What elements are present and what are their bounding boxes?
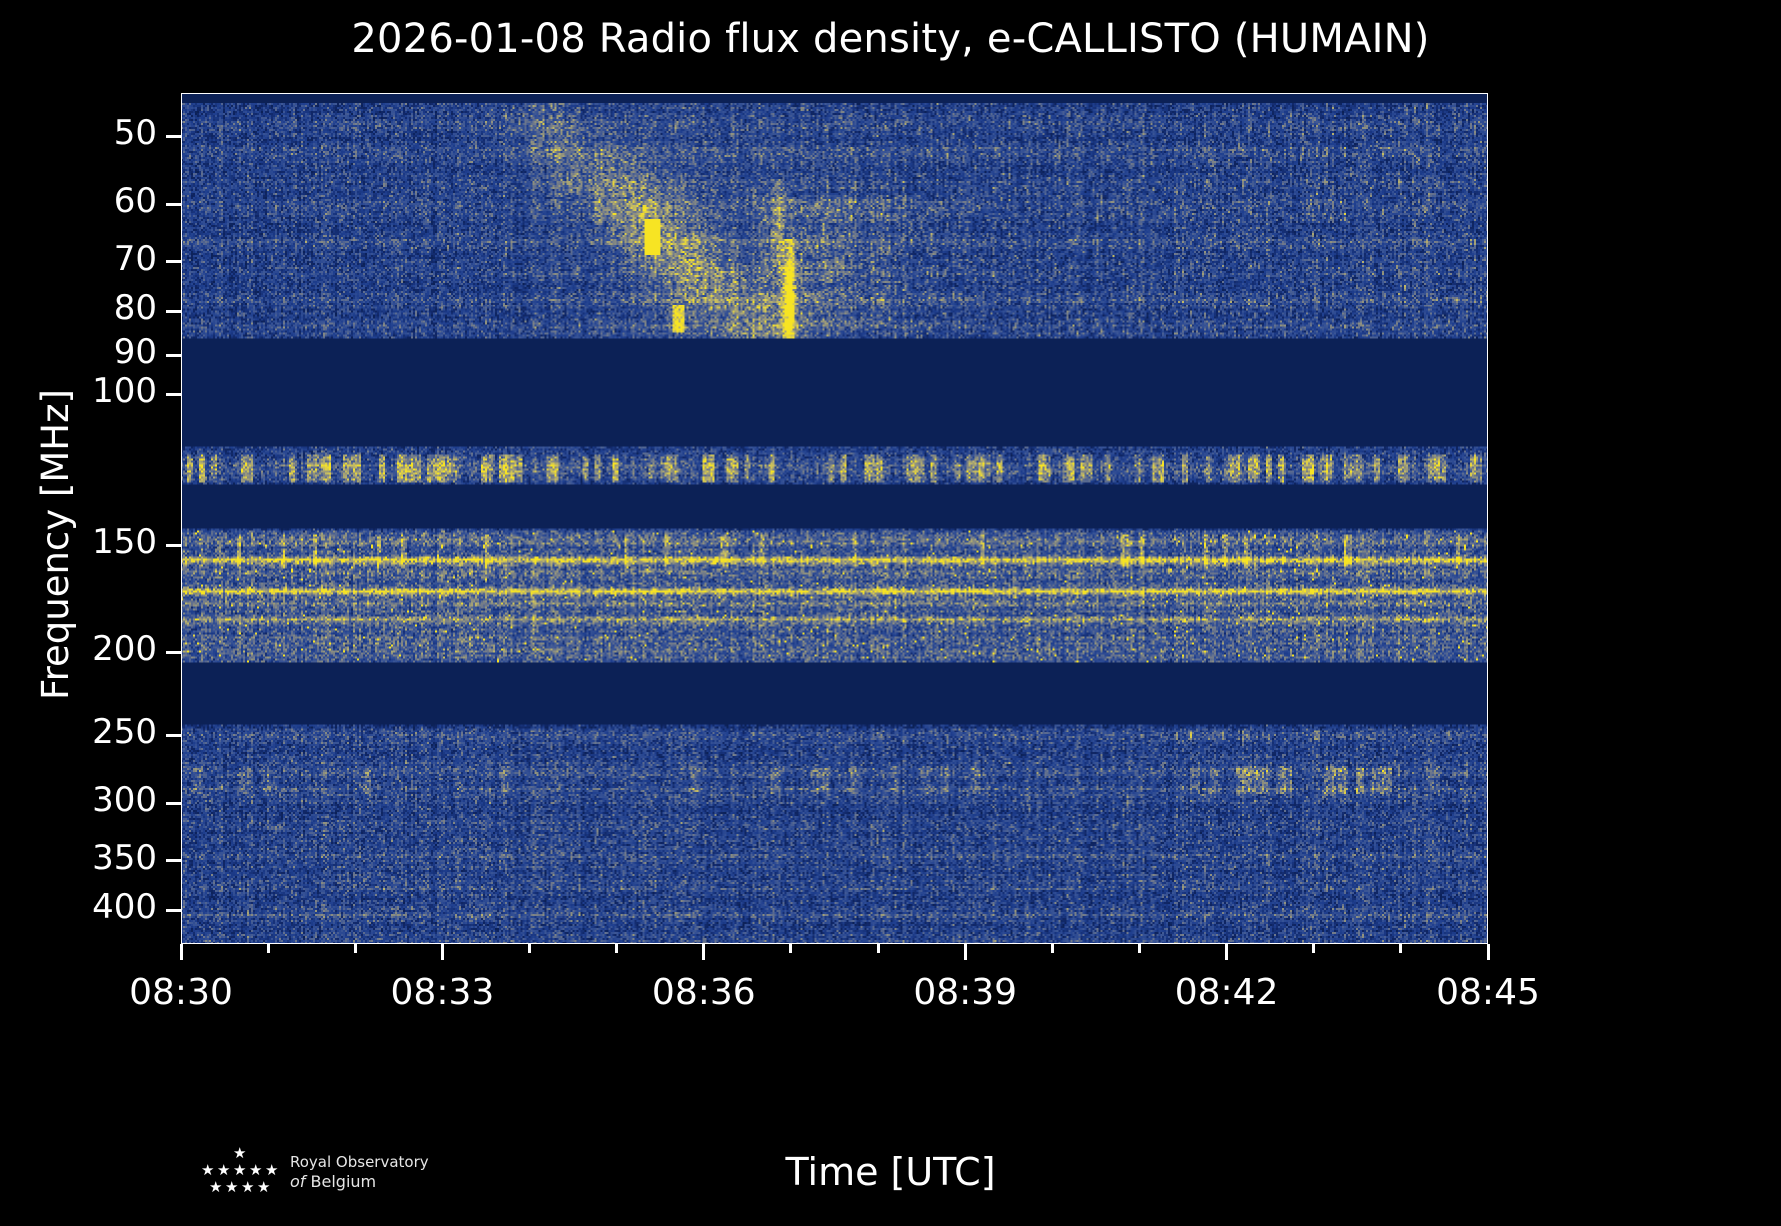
star-icon: ★: [225, 1180, 238, 1195]
x-tick-label: 08:33: [352, 972, 532, 1013]
star-icon: ★: [209, 1180, 222, 1195]
x-tick-label: 08:45: [1398, 972, 1578, 1013]
y-tick-label: 400: [92, 887, 157, 927]
y-tick-mark: [166, 203, 181, 206]
x-tick-label: 08:36: [614, 972, 794, 1013]
x-tick-mark-minor: [615, 944, 618, 953]
y-tick-mark: [166, 260, 181, 263]
x-tick-label: 08:42: [1137, 972, 1317, 1013]
royal-observatory-logo: ★★★★★★★★★★ Royal Observatory of Belgium: [196, 1146, 429, 1200]
x-tick-mark-minor: [1138, 944, 1141, 953]
y-tick-label: 100: [92, 371, 157, 411]
y-tick-label: 60: [114, 181, 157, 221]
y-tick-label: 200: [92, 629, 157, 669]
y-tick-label: 350: [92, 838, 157, 878]
spectrogram-image: [181, 93, 1488, 944]
y-axis-label: Frequency [MHz]: [34, 389, 77, 700]
y-tick-mark: [166, 802, 181, 805]
y-tick-label: 80: [114, 288, 157, 328]
logo-text: Royal Observatory of Belgium: [290, 1153, 429, 1193]
x-tick-mark-major: [702, 944, 705, 960]
y-tick-mark: [166, 859, 181, 862]
y-tick-label: 90: [114, 332, 157, 372]
y-tick-mark: [166, 909, 181, 912]
x-tick-mark-minor: [789, 944, 792, 953]
logo-belgium: Belgium: [311, 1172, 377, 1191]
x-tick-mark-major: [441, 944, 444, 960]
figure-canvas: 2026-01-08 Radio flux density, e-CALLIST…: [0, 0, 1781, 1226]
x-tick-mark-minor: [354, 944, 357, 953]
star-icon: ★: [201, 1163, 214, 1178]
logo-of: of: [290, 1172, 305, 1191]
star-icon: ★: [249, 1163, 262, 1178]
y-tick-mark: [166, 734, 181, 737]
star-icon: ★: [265, 1163, 278, 1178]
star-icon: ★: [241, 1180, 254, 1195]
x-tick-mark-minor: [267, 944, 270, 953]
x-tick-mark-major: [180, 944, 183, 960]
y-tick-label: 70: [114, 239, 157, 279]
logo-line-2: of Belgium: [290, 1172, 429, 1192]
x-tick-mark-major: [1487, 944, 1490, 960]
x-tick-mark-minor: [1399, 944, 1402, 953]
star-icon: ★: [257, 1180, 270, 1195]
y-tick-mark: [166, 393, 181, 396]
star-icon: ★: [233, 1146, 246, 1161]
x-tick-label: 08:30: [91, 972, 271, 1013]
spectrogram-plot-area: [181, 93, 1488, 944]
x-tick-mark-major: [964, 944, 967, 960]
page-title: 2026-01-08 Radio flux density, e-CALLIST…: [0, 16, 1781, 62]
x-tick-mark-minor: [528, 944, 531, 953]
y-tick-label: 50: [114, 113, 157, 153]
y-tick-mark: [166, 651, 181, 654]
x-tick-label: 08:39: [875, 972, 1055, 1013]
x-tick-mark-minor: [1312, 944, 1315, 953]
y-tick-mark: [166, 354, 181, 357]
y-tick-label: 300: [92, 780, 157, 820]
x-tick-mark-minor: [877, 944, 880, 953]
y-tick-mark: [166, 310, 181, 313]
logo-line-1: Royal Observatory: [290, 1153, 429, 1172]
star-icon: ★: [217, 1163, 230, 1178]
x-tick-mark-minor: [1051, 944, 1054, 953]
y-tick-label: 250: [92, 712, 157, 752]
y-tick-mark: [166, 544, 181, 547]
x-tick-mark-major: [1225, 944, 1228, 960]
y-tick-mark: [166, 135, 181, 138]
star-icon: ★: [233, 1163, 246, 1178]
stars-icon: ★★★★★★★★★★: [196, 1146, 280, 1200]
y-tick-label: 150: [92, 522, 157, 562]
